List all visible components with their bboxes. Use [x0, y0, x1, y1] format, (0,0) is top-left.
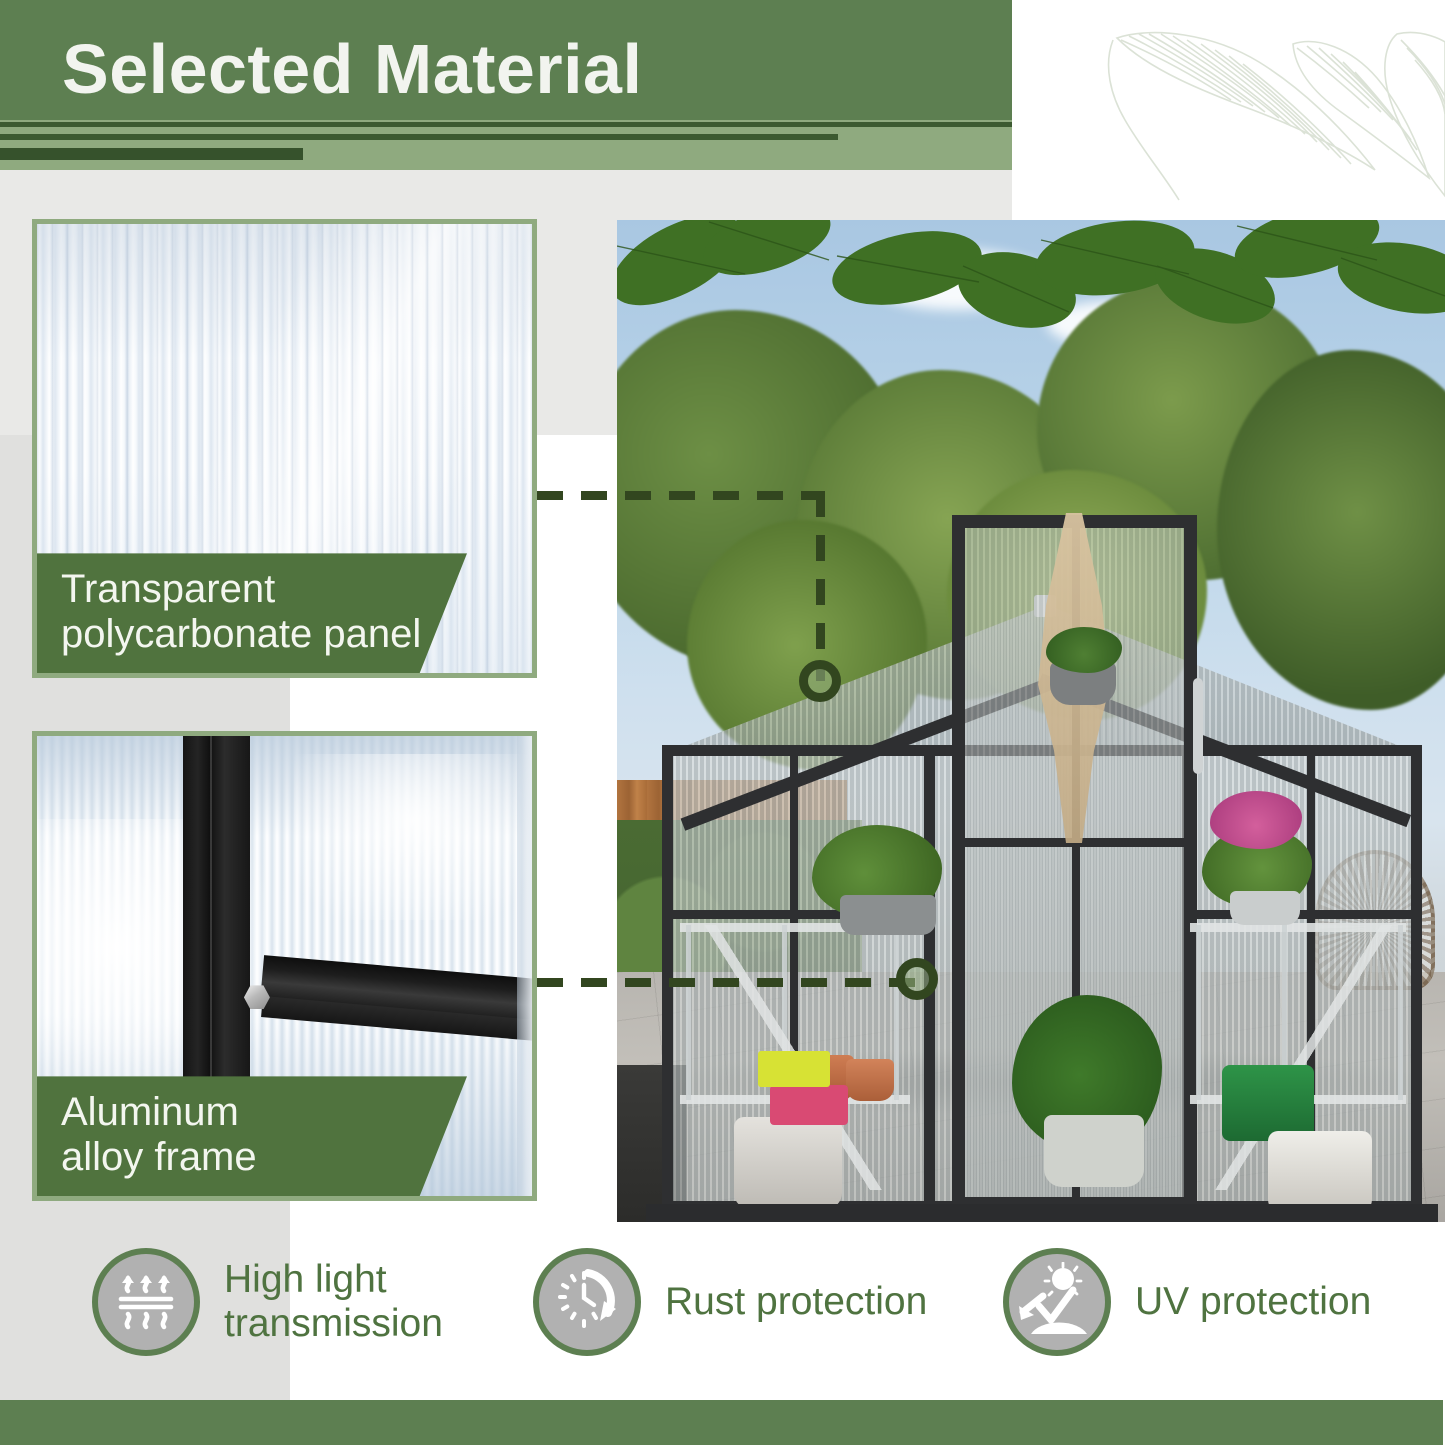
feature-high-light-transmission: High light transmission [92, 1248, 443, 1356]
infographic-canvas: Selected Material [0, 0, 1445, 1445]
clock-rust-protection-icon [533, 1248, 641, 1356]
light-transmission-icon [92, 1248, 200, 1356]
header-rule-3 [0, 148, 303, 160]
footer-bar [0, 1400, 1443, 1445]
connector-aluminum-horizontal [537, 978, 927, 987]
feature-label-rust-protection: Rust protection [665, 1280, 927, 1324]
feature-uv-protection: UV protection [1003, 1248, 1371, 1356]
header-rule-2 [0, 134, 838, 140]
greenhouse-main-photo [617, 220, 1445, 1222]
header-rule-1 [0, 122, 1012, 127]
aluminum-label-banner: Aluminum alloy frame [37, 1076, 467, 1196]
material-card-polycarbonate: Transparent polycarbonate panel [32, 219, 537, 678]
header-band-light [0, 120, 1012, 170]
connector-polycarbonate-horizontal [537, 491, 825, 500]
greenhouse-structure [662, 455, 1422, 1210]
feature-rust-protection: Rust protection [533, 1248, 927, 1356]
feature-label-uv-protection: UV protection [1135, 1280, 1371, 1324]
sun-uv-protection-icon [1003, 1248, 1111, 1356]
feature-label-high-light-transmission: High light transmission [224, 1258, 443, 1345]
foreground-leaves [617, 220, 1445, 430]
aluminum-label-line1: Aluminum [61, 1090, 467, 1135]
leaf-decoration-icon [1045, 0, 1445, 220]
connector-aluminum-marker [896, 958, 938, 1000]
polycarbonate-label-banner: Transparent polycarbonate panel [37, 553, 467, 673]
polycarbonate-label-line2: polycarbonate panel [61, 612, 467, 657]
connector-polycarbonate-vertical [816, 491, 825, 681]
connector-polycarbonate-marker [799, 660, 841, 702]
polycarbonate-label-line1: Transparent [61, 567, 467, 612]
door-handle [1193, 678, 1203, 774]
page-title: Selected Material [62, 34, 642, 104]
material-card-aluminum: Aluminum alloy frame [32, 731, 537, 1201]
aluminum-label-line2: alloy frame [61, 1135, 467, 1180]
